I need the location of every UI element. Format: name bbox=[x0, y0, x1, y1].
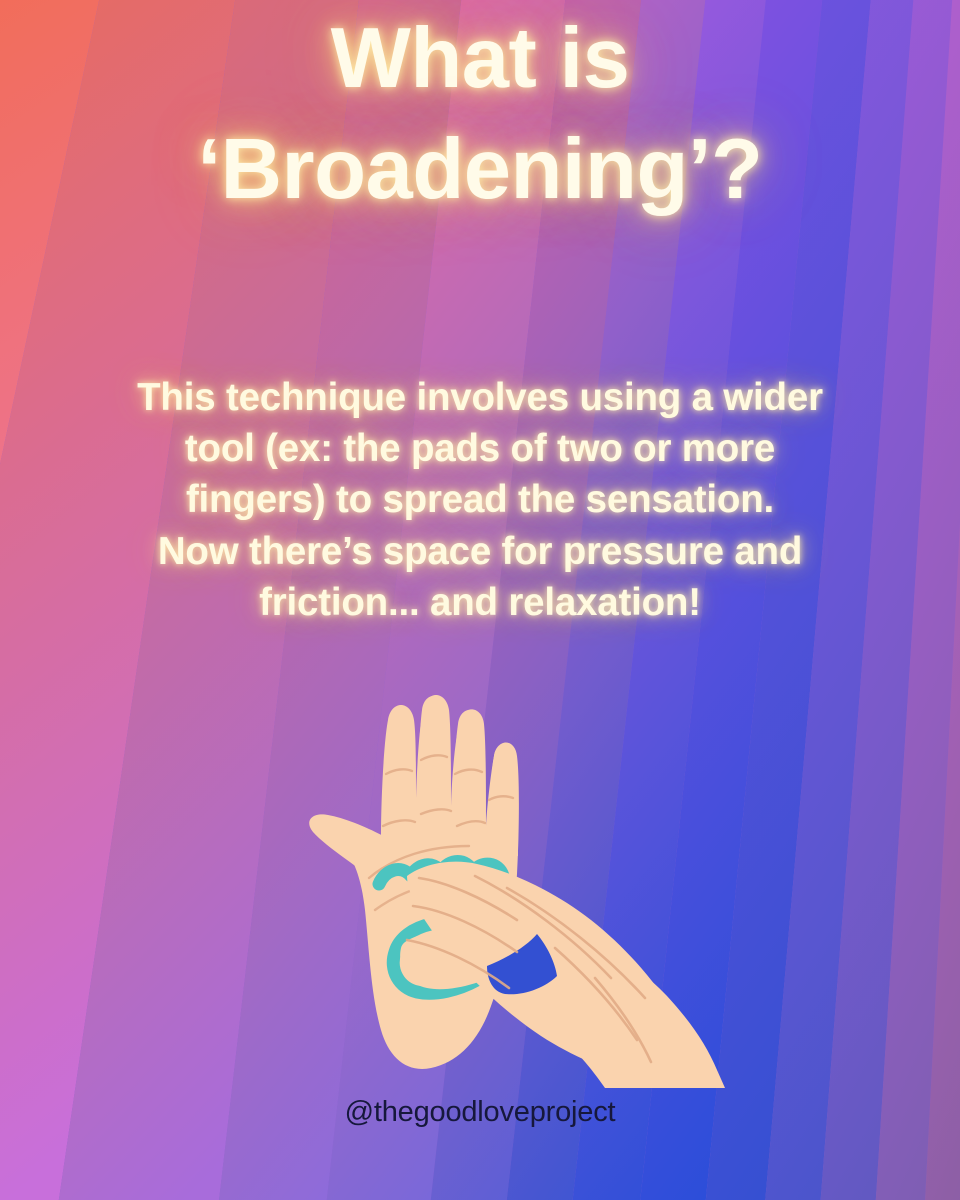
body-line-1: This technique involves using a wider bbox=[95, 372, 865, 423]
body-line-2: tool (ex: the pads of two or more bbox=[95, 423, 865, 474]
poster: What is ‘Broadening’? This technique inv… bbox=[0, 0, 960, 1200]
body-line-4: Now there’s space for pressure and bbox=[95, 526, 865, 577]
account-handle: @thegoodloveproject bbox=[0, 1096, 960, 1129]
title-line-2: ‘Broadening’? bbox=[0, 115, 960, 226]
body-line-5: friction... and relaxation! bbox=[95, 577, 865, 628]
title-line-1: What is bbox=[0, 4, 960, 115]
poster-body-text: This technique involves using a wider to… bbox=[0, 372, 960, 628]
two-hands-illustration bbox=[255, 648, 725, 1088]
body-line-3: fingers) to spread the sensation. bbox=[95, 474, 865, 525]
poster-title: What is ‘Broadening’? bbox=[0, 4, 960, 225]
